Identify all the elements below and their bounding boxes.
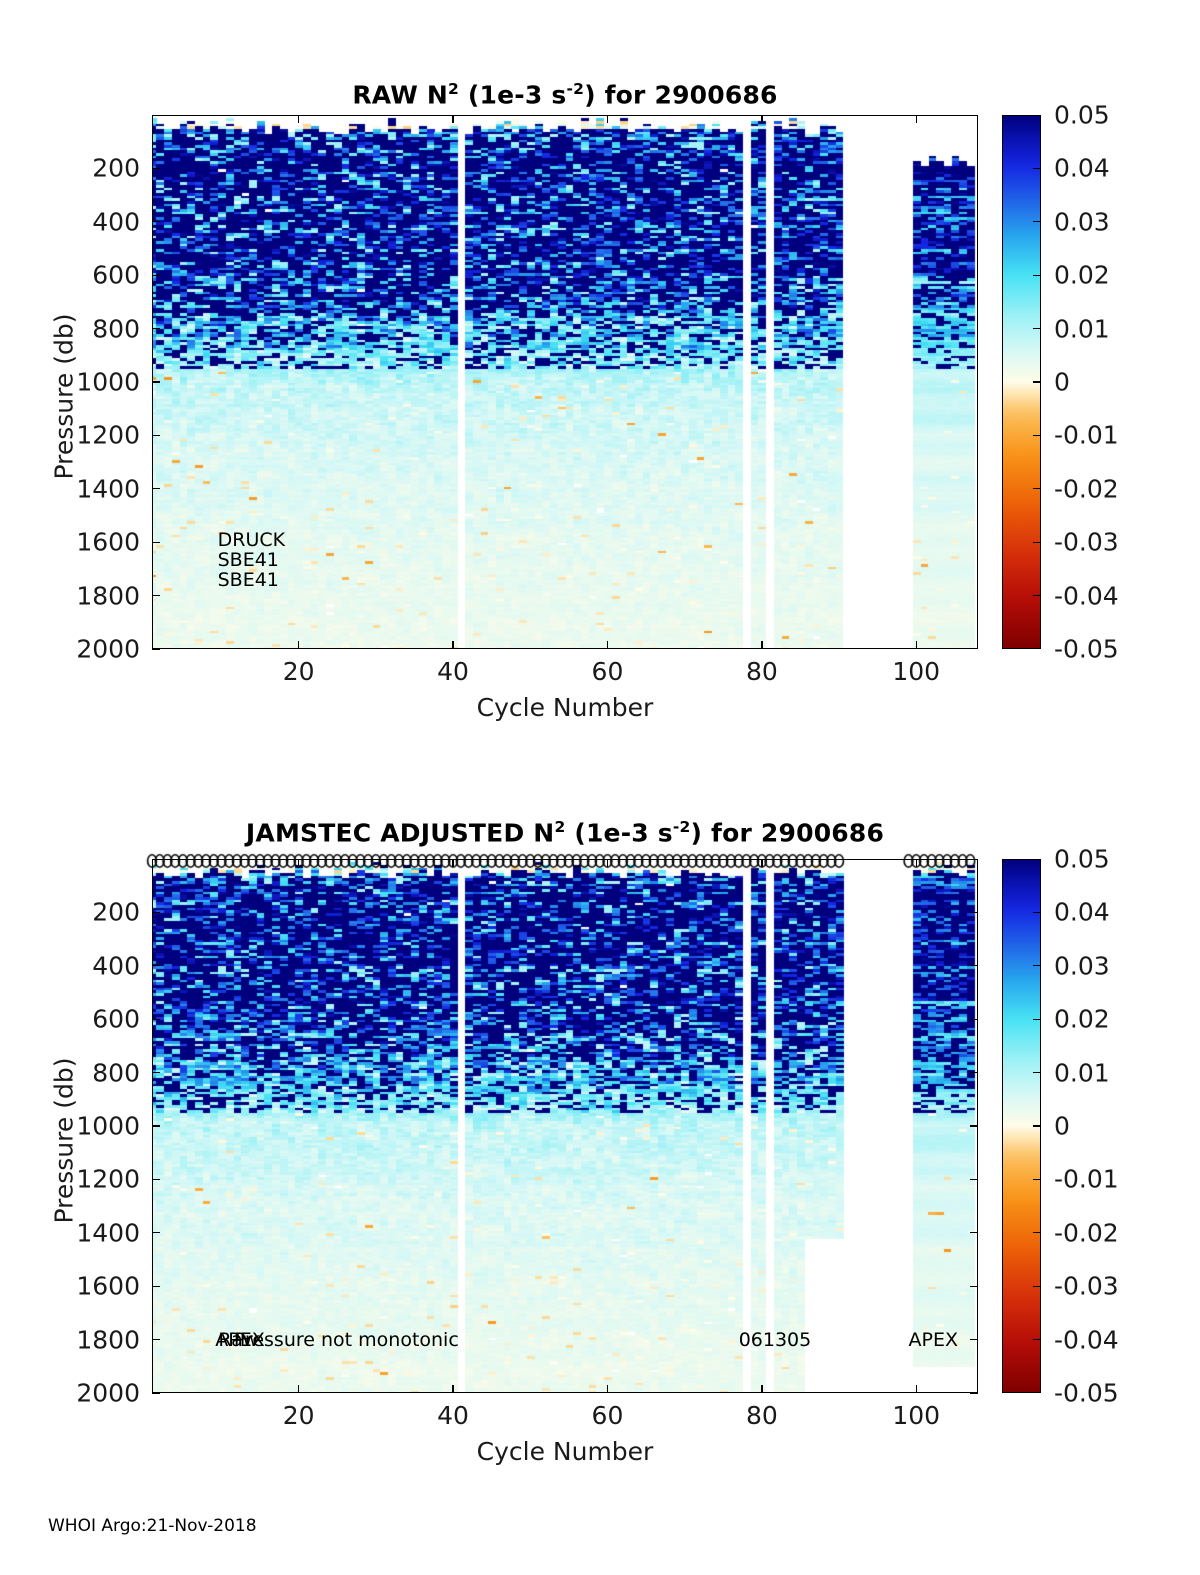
title-superscript: -2 [566, 80, 584, 98]
colorbar-tick-mark [1033, 1125, 1041, 1126]
plot-annotation: Pressure not monotonic [234, 1327, 459, 1353]
y-axis-tick-label: 1800 [0, 581, 140, 610]
y-axis-tick-mark [152, 1232, 160, 1233]
heatmap-adjusted [153, 860, 978, 1393]
panel-raw-title: RAW N2 (1e-3 s-2) for 2900686 [152, 80, 978, 109]
title-superscript: -2 [673, 818, 691, 836]
colorbar-tick-mark [1033, 1019, 1041, 1020]
y-axis-tick-label: 1600 [0, 1272, 140, 1301]
colorbar-tick-mark [1033, 275, 1041, 276]
colorbar-tick-label: 0.04 [1041, 898, 1110, 927]
colorbar-tick-label: -0.04 [1041, 581, 1119, 610]
y-axis-tick-label: 1600 [0, 528, 140, 557]
x-axis-tick-mark [761, 1385, 762, 1393]
x-axis-tick-mark-top [298, 115, 299, 123]
x-axis-tick-mark-top [761, 859, 762, 867]
colorbar-tick-label: 0.03 [1041, 951, 1110, 980]
title-text: JAMSTEC ADJUSTED N [246, 818, 555, 847]
y-axis-tick-mark [152, 1339, 160, 1340]
y-axis-tick-mark [152, 381, 160, 382]
x-axis-tick-label: 80 [746, 657, 778, 686]
figure-footer: WHOI Argo:21-Nov-2018 [48, 1516, 257, 1536]
x-axis-tick-mark-top [761, 115, 762, 123]
y-axis-tick-mark [152, 1392, 160, 1393]
colorbar-tick-mark [1033, 381, 1041, 382]
colorbar-tick-label: 0.01 [1041, 314, 1110, 343]
y-axis-tick-mark-right [970, 1392, 978, 1393]
colorbar-tick-label: -0.04 [1041, 1325, 1119, 1354]
title-superscript: 2 [554, 818, 565, 836]
colorbar-tick-label: -0.01 [1041, 1165, 1119, 1194]
colorbar-tick-mark [1033, 1286, 1041, 1287]
colorbar-tick-mark [1033, 595, 1041, 596]
colorbar-tick-label: 0.04 [1041, 154, 1110, 183]
colorbar-tick-mark [1033, 435, 1041, 436]
colorbar-tick-mark [1033, 1072, 1041, 1073]
title-text: RAW N [352, 80, 448, 109]
x-axis-tick-label: 40 [437, 657, 469, 686]
colorbar-tick-mark [1033, 965, 1041, 966]
title-text: ) for 2900686 [584, 80, 778, 109]
colorbar-tick-label: -0.03 [1041, 528, 1119, 557]
x-axis-tick-mark [607, 641, 608, 649]
y-axis-tick-mark-right [970, 912, 978, 913]
x-axis-tick-mark [452, 1385, 453, 1393]
colorbar-tick-label: -0.02 [1041, 474, 1119, 503]
colorbar-tick-mark [1033, 542, 1041, 543]
x-axis-tick-mark-top [607, 115, 608, 123]
colorbar-tick-mark [1033, 488, 1041, 489]
y-axis-tick-mark [152, 542, 160, 543]
x-axis-tick-mark-top [607, 859, 608, 867]
x-axis-tick-mark-top [452, 115, 453, 123]
x-axis-tick-mark-top [916, 859, 917, 867]
y-axis-tick-label: 400 [0, 207, 140, 236]
y-axis-tick-mark [152, 595, 160, 596]
y-axis-tick-label: 600 [0, 1005, 140, 1034]
plot-annotation: APEX [909, 1327, 958, 1353]
y-axis-tick-mark [152, 275, 160, 276]
y-axis-tick-mark [152, 648, 160, 649]
y-axis-tick-mark [152, 328, 160, 329]
x-axis-tick-label: 40 [437, 1401, 469, 1430]
argo-n2-figure: RAW N2 (1e-3 s-2) for 2900686 2004006008… [0, 0, 1200, 1575]
y-axis-tick-label: 1800 [0, 1325, 140, 1354]
colorbar-tick-label: 0.05 [1041, 845, 1110, 874]
title-text: ) for 2900686 [691, 818, 885, 847]
cycle-marker-row [140, 848, 1020, 874]
panel-adjusted-plot-area [152, 859, 978, 1393]
colorbar-tick-label: -0.02 [1041, 1218, 1119, 1247]
x-axis-tick-label: 20 [283, 657, 315, 686]
x-axis-tick-mark [298, 1385, 299, 1393]
y-axis-tick-mark-right [970, 1232, 978, 1233]
colorbar-tick-label: -0.03 [1041, 1272, 1119, 1301]
y-axis-tick-mark [152, 965, 160, 966]
panel-adjusted-title: JAMSTEC ADJUSTED N2 (1e-3 s-2) for 29006… [152, 818, 978, 847]
colorbar-tick-label: -0.05 [1041, 1379, 1119, 1408]
y-axis-tick-label: 200 [0, 898, 140, 927]
colorbar-tick-mark [1033, 912, 1041, 913]
x-axis-tick-mark [916, 1385, 917, 1393]
x-axis-tick-label: 80 [746, 1401, 778, 1430]
y-axis-tick-mark [152, 488, 160, 489]
x-axis-tick-label: 100 [892, 657, 940, 686]
colorbar-tick-label: 0.02 [1041, 1005, 1110, 1034]
title-text: (1e-3 s [565, 818, 672, 847]
y-axis-tick-label: 2000 [0, 635, 140, 664]
plot-annotation: SBE41 [218, 567, 279, 593]
x-axis-tick-mark [298, 641, 299, 649]
x-axis-tick-label: 60 [592, 1401, 624, 1430]
colorbar-tick-label: 0.03 [1041, 207, 1110, 236]
colorbar-tick-label: 0 [1041, 1112, 1070, 1141]
colorbar-tick-label: 0 [1041, 368, 1070, 397]
x-axis-tick-label: 60 [592, 657, 624, 686]
y-axis-tick-mark-right [970, 1179, 978, 1180]
colorbar-tick-label: -0.05 [1041, 635, 1119, 664]
y-axis-tick-mark [152, 1125, 160, 1126]
y-axis-tick-mark [152, 435, 160, 436]
y-axis-tick-label: 400 [0, 951, 140, 980]
y-axis-tick-mark-right [970, 1125, 978, 1126]
y-axis-tick-mark-right [970, 1339, 978, 1340]
y-axis-tick-mark-right [970, 1286, 978, 1287]
colorbar-tick-label: 0.02 [1041, 261, 1110, 290]
y-axis-tick-mark [152, 1072, 160, 1073]
colorbar-tick-label: 0.01 [1041, 1058, 1110, 1087]
x-axis-tick-mark-top [298, 859, 299, 867]
y-axis-tick-mark [152, 221, 160, 222]
y-axis-tick-label: 200 [0, 154, 140, 183]
colorbar-tick-mark [1033, 168, 1041, 169]
y-axis-tick-label: 600 [0, 261, 140, 290]
y-axis-tick-mark [152, 1179, 160, 1180]
colorbar-tick-mark [1033, 328, 1041, 329]
y-axis-tick-mark-right [970, 1019, 978, 1020]
y-axis-tick-mark [152, 912, 160, 913]
y-axis-tick-mark-right [970, 1072, 978, 1073]
panel-raw-ylabel: Pressure (db) [50, 297, 79, 497]
colorbar-tick-label: -0.01 [1041, 421, 1119, 450]
y-axis-tick-mark [152, 1286, 160, 1287]
x-axis-tick-mark [916, 641, 917, 649]
colorbar-tick-mark [1033, 221, 1041, 222]
plot-annotation: 061305 [739, 1327, 812, 1353]
x-axis-tick-mark [452, 641, 453, 649]
colorbar-tick-mark [1033, 1339, 1041, 1340]
x-axis-tick-mark-top [916, 115, 917, 123]
x-axis-tick-mark [761, 641, 762, 649]
title-superscript: 2 [448, 80, 459, 98]
y-axis-tick-mark-right [970, 965, 978, 966]
x-axis-tick-label: 20 [283, 1401, 315, 1430]
title-text: (1e-3 s [459, 80, 566, 109]
x-axis-tick-label: 100 [892, 1401, 940, 1430]
x-axis-tick-mark-top [452, 859, 453, 867]
colorbar-tick-mark [1033, 1179, 1041, 1180]
x-axis-tick-mark [607, 1385, 608, 1393]
panel-adjusted-xlabel: Cycle Number [152, 1437, 978, 1466]
panel-adjusted-ylabel: Pressure (db) [50, 1041, 79, 1241]
y-axis-tick-mark [152, 1019, 160, 1020]
y-axis-tick-label: 2000 [0, 1379, 140, 1408]
y-axis-tick-mark [152, 168, 160, 169]
colorbar-tick-label: 0.05 [1041, 101, 1110, 130]
colorbar-tick-mark [1033, 1232, 1041, 1233]
panel-raw-xlabel: Cycle Number [152, 693, 978, 722]
